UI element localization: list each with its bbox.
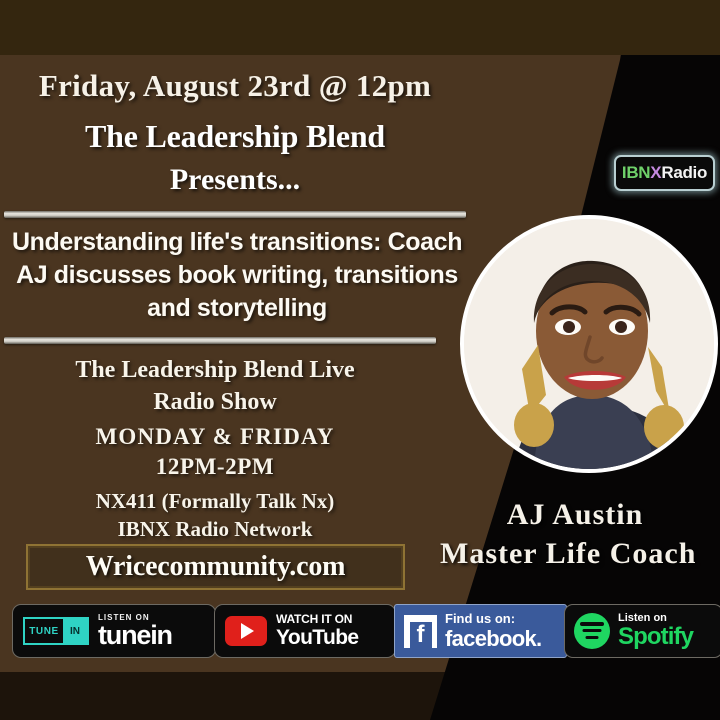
- presenter-title: Master Life Coach: [440, 537, 720, 571]
- presents-label: Presents...: [0, 163, 470, 197]
- youtube-badge-text: WATCH IT ON YouTube: [276, 613, 359, 648]
- episode-headline: Understanding life's transitions: Coach …: [4, 226, 470, 325]
- divider-rule-bottom: [4, 337, 436, 344]
- youtube-play-icon: [225, 616, 267, 646]
- website-url: Wricecommunity.com: [86, 551, 346, 583]
- episode-headline-line3: and storytelling: [4, 292, 470, 325]
- youtube-badge-small: WATCH IT ON: [276, 613, 359, 626]
- facebook-badge-big: facebook.: [445, 627, 541, 650]
- show-subtitle: The Leadership Blend Live Radio Show: [0, 355, 430, 419]
- facebook-badge-small: Find us on:: [445, 612, 541, 626]
- tunein-icon: TUNE IN: [23, 617, 89, 645]
- spotify-badge[interactable]: Listen on Spotify: [564, 604, 720, 658]
- tunein-badge-big: tunein: [98, 623, 172, 649]
- show-title: The Leadership Blend: [0, 118, 470, 155]
- background-band-top-overlay: [0, 0, 720, 55]
- episode-headline-line1: Understanding life's transitions: Coach: [4, 226, 470, 259]
- platform-badge-row: TUNE IN LISTEN ON tunein WATCH IT ON You…: [0, 600, 720, 662]
- spotify-icon: [574, 613, 610, 649]
- youtube-play-triangle: [241, 623, 254, 639]
- facebook-badge[interactable]: f Find us on: facebook.: [394, 604, 567, 658]
- spotify-badge-text: Listen on Spotify: [618, 612, 693, 649]
- broadcast-time: 12PM-2PM: [0, 454, 430, 480]
- facebook-icon: f: [404, 615, 437, 648]
- spotify-badge-big: Spotify: [618, 624, 693, 649]
- tunein-icon-right: IN: [63, 619, 87, 643]
- website-box[interactable]: Wricecommunity.com: [26, 544, 405, 590]
- ibnx-logo-part1: IBN: [622, 163, 650, 182]
- youtube-badge[interactable]: WATCH IT ON YouTube: [214, 604, 396, 658]
- show-subtitle-line1: The Leadership Blend Live: [0, 355, 430, 387]
- event-date-line: Friday, August 23rd @ 12pm: [0, 68, 470, 104]
- divider-rule-top: [4, 211, 466, 218]
- ibnx-logo-part2: X: [650, 163, 661, 182]
- broadcast-network: NX411 (Formally Talk Nx) IBNX Radio Netw…: [0, 487, 430, 544]
- ibnx-logo-part3: Radio: [661, 163, 707, 182]
- presenter-photo: [460, 215, 718, 473]
- tunein-badge[interactable]: TUNE IN LISTEN ON tunein: [12, 604, 216, 658]
- facebook-badge-text: Find us on: facebook.: [445, 612, 541, 649]
- radio-show-promo-poster: IBNXRadio Friday, August 23rd @ 12pm The…: [0, 0, 720, 720]
- episode-headline-line2: AJ discusses book writing, transitions: [4, 259, 470, 292]
- broadcast-days: MONDAY & FRIDAY: [0, 424, 430, 450]
- network-line2: IBNX Radio Network: [0, 515, 430, 543]
- network-line1: NX411 (Formally Talk Nx): [0, 487, 430, 515]
- ibnx-logo-text: IBNXRadio: [622, 163, 707, 183]
- tunein-icon-left: TUNE: [25, 619, 63, 643]
- youtube-badge-big: YouTube: [276, 627, 359, 649]
- presenter-headshot-illustration: [464, 219, 714, 469]
- ibnx-radio-logo: IBNXRadio: [614, 155, 715, 191]
- facebook-icon-glyph: f: [410, 622, 432, 648]
- show-subtitle-line2: Radio Show: [0, 387, 430, 419]
- tunein-badge-text: LISTEN ON tunein: [98, 614, 172, 648]
- presenter-name: AJ Austin: [430, 498, 720, 532]
